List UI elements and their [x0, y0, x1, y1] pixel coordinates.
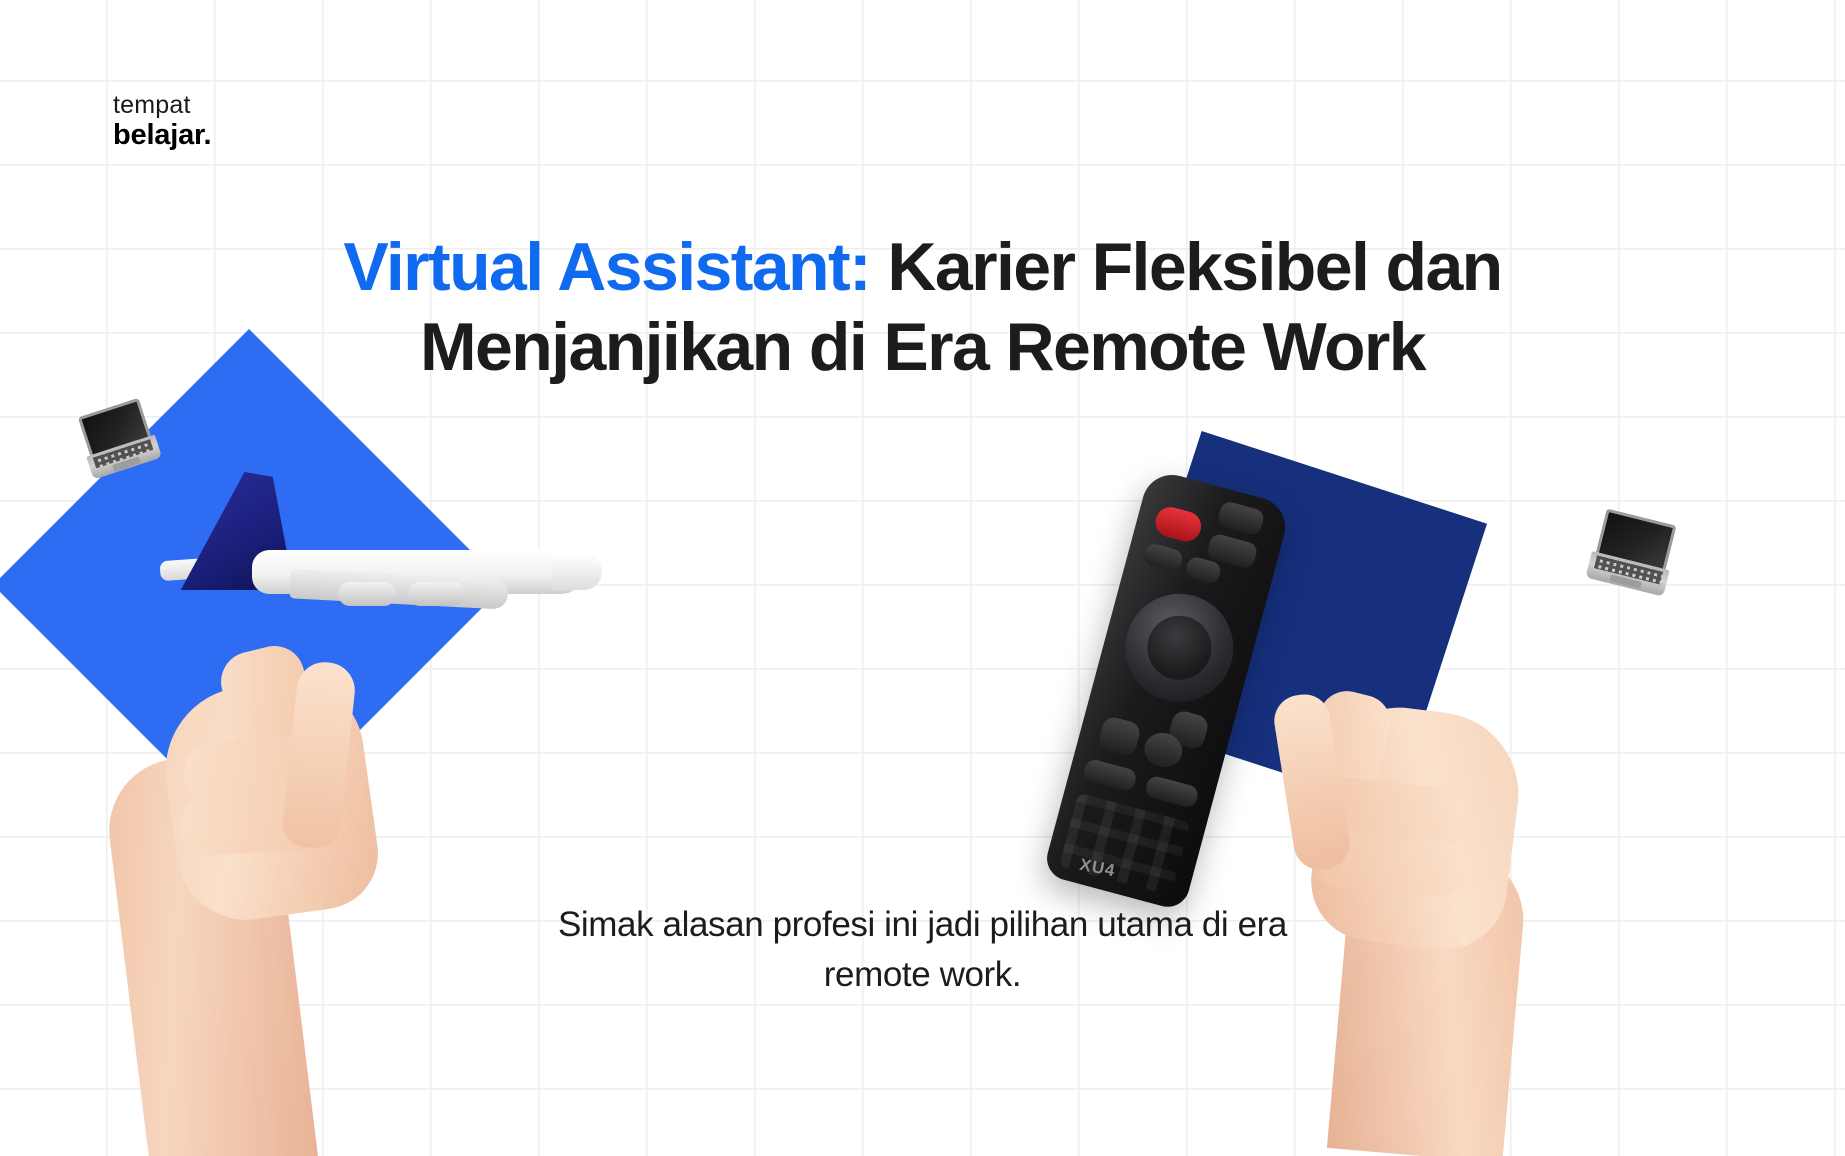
remote-button-i [1144, 774, 1200, 809]
brand-logo: tempat belajar. [113, 92, 211, 151]
remote-back-button [1097, 715, 1143, 758]
brand-logo-line2: belajar. [113, 120, 211, 150]
airplane-nose [552, 554, 602, 590]
remote-button-h [1082, 758, 1138, 793]
remote-power-button [1152, 504, 1204, 545]
laptop-icon-right [1589, 508, 1676, 595]
page-title-accent: Virtual Assistant: [343, 229, 870, 305]
hand-holding-remote [1262, 636, 1562, 1156]
hand-holding-airplane [118, 588, 418, 1156]
page-subtitle: Simak alasan profesi ini jadi pilihan ut… [543, 900, 1303, 999]
brand-logo-line1: tempat [113, 92, 211, 118]
remote-number-keypad [1059, 793, 1191, 896]
remote-button-a [1216, 500, 1265, 537]
promo-banner: tempat belajar. Virtual Assistant: Karie… [0, 0, 1845, 1156]
remote-button-d [1142, 542, 1184, 573]
page-title: Virtual Assistant: Karier Fleksibel dan … [0, 228, 1845, 387]
